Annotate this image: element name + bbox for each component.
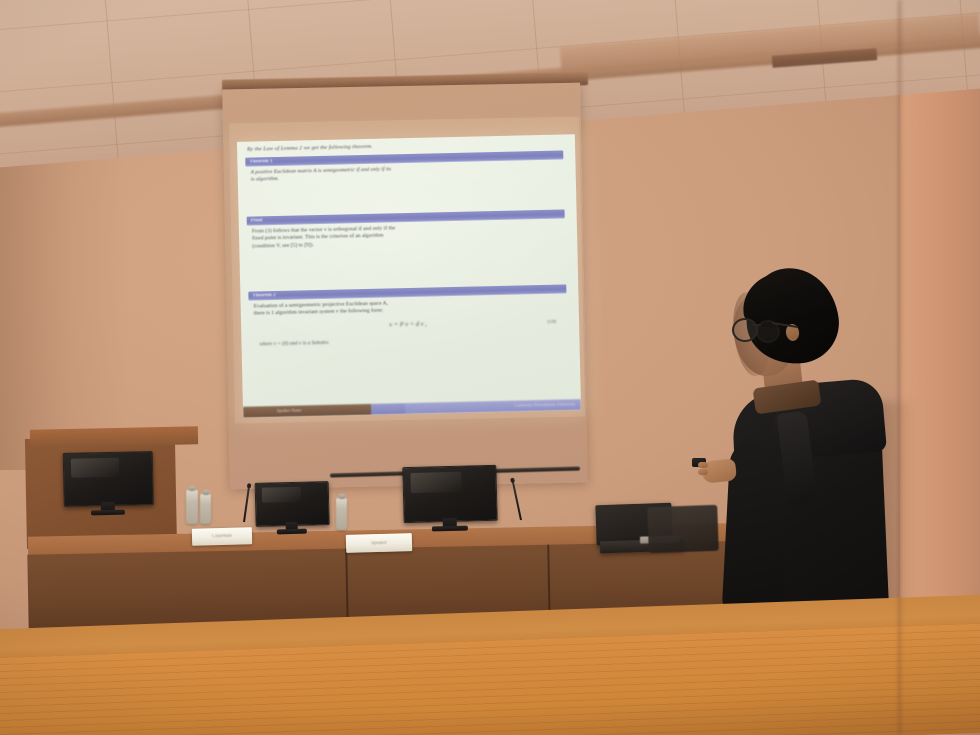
name-card-label: Chairman [212, 534, 232, 539]
water-bottle[interactable] [200, 494, 211, 524]
block-title: Theorem 1 [249, 158, 272, 166]
monitor-screen [255, 481, 330, 527]
slide-block-proof: Proof From (3) follows that the vector v… [247, 209, 566, 250]
footer-title-text: Conference Presentation, University [514, 401, 575, 407]
footer-author-text: Speaker Name [277, 407, 302, 413]
water-bottle[interactable] [186, 490, 198, 524]
name-card-label: Speaker [371, 540, 387, 545]
glasses-bridge-icon [752, 324, 761, 326]
block-title: Theorem 2 [252, 292, 275, 300]
monitor-left[interactable] [63, 451, 152, 515]
projected-slide: By the Law of Lemma 2 we get the followi… [237, 134, 581, 418]
monitor-glare [71, 458, 120, 478]
equation-where-clause: where v = (0) and v is a Sobolev. [254, 334, 562, 349]
block-body: Evaluation of a semigeometric projective… [249, 293, 568, 348]
monitor-glare [262, 487, 302, 503]
bottle-cap-icon [189, 486, 195, 491]
bottle-cap-icon [339, 494, 345, 499]
monitor-screen [402, 465, 497, 523]
monitor-base [432, 526, 468, 532]
name-card: Speaker [346, 533, 412, 553]
podium-ledge [30, 426, 198, 448]
slide-equation-row: v = P v + d v , (14) [254, 317, 562, 336]
lecture-hall-photo: By the Law of Lemma 2 we get the followi… [0, 0, 980, 735]
water-bottle[interactable] [336, 498, 347, 530]
equation-expression: v = P v + d v , [254, 317, 562, 332]
slide-block-theorem-2: Theorem 2 Evaluation of a semigeometric … [248, 284, 567, 348]
presenter-finger [698, 469, 708, 475]
slide-block-theorem-1: Theorem 1 A positive Euclidean matrix A … [245, 150, 564, 184]
monitor-screen [63, 451, 154, 507]
name-card: Chairman [192, 527, 252, 545]
monitor-base [91, 510, 125, 516]
footer-segment-mid [371, 403, 405, 415]
monitor-right[interactable] [402, 465, 496, 533]
bottle-cap-icon [203, 490, 209, 495]
presenter-finger [698, 462, 708, 468]
wall-corner [898, 0, 903, 735]
block-title: Proof [251, 217, 263, 224]
monitor-glare [411, 472, 462, 493]
equation-number: (14) [547, 318, 556, 326]
monitor-center[interactable] [255, 481, 328, 539]
glasses-lens-icon [732, 318, 758, 342]
monitor-base [277, 529, 307, 535]
